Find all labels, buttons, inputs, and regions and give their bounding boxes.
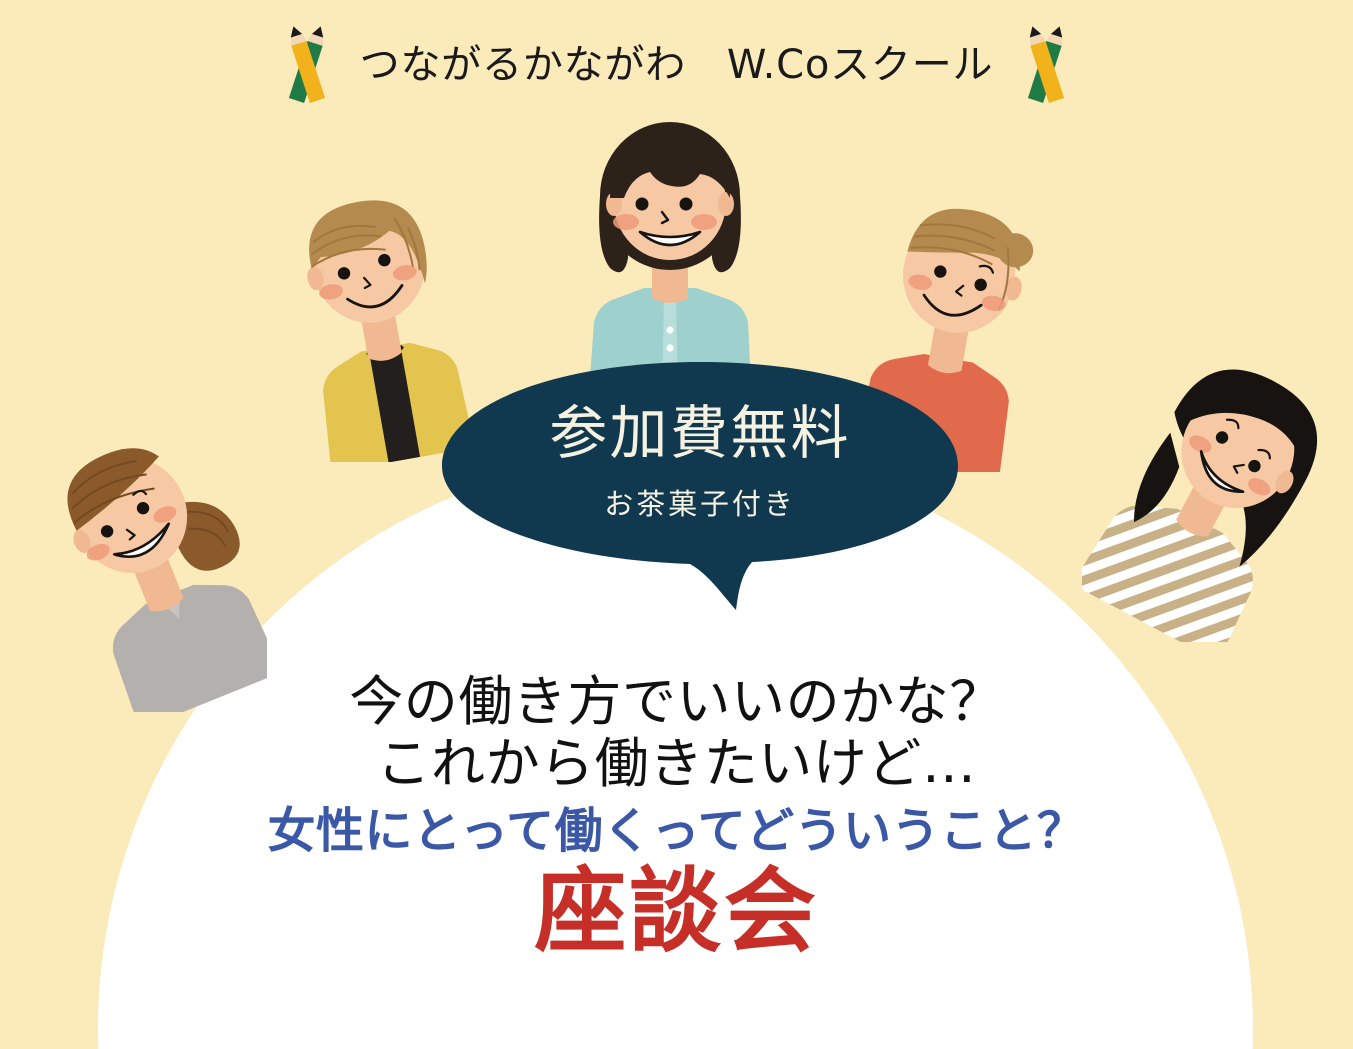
speech-bubble [440, 360, 960, 610]
main-copy-block: 今の働き方でいいのかな？ これから働きたいけど… 女性にとって働くってどういうこ… [0, 672, 1353, 970]
person-far-right-illustration [1082, 342, 1353, 642]
crossed-pencils-icon-right [1015, 22, 1077, 108]
crossed-pencils-icon-left [276, 22, 338, 108]
person-center-illustration [556, 104, 784, 404]
copy-title-zadankai: 座談会 [0, 864, 1353, 961]
copy-line-1: 今の働き方でいいのかな？ [0, 672, 1353, 732]
header: つながるかながわ W.Coスクール [0, 22, 1353, 108]
poster-canvas: つながるかながわ W.Coスクール [0, 0, 1353, 1049]
copy-blue-line: 女性にとって働くってどういうこと？ [0, 805, 1353, 858]
person-far-left-illustration [42, 412, 267, 712]
copy-line-2: これから働きたいけど… [0, 734, 1353, 794]
page-title: つながるかながわ W.Coスクール [338, 45, 1016, 85]
